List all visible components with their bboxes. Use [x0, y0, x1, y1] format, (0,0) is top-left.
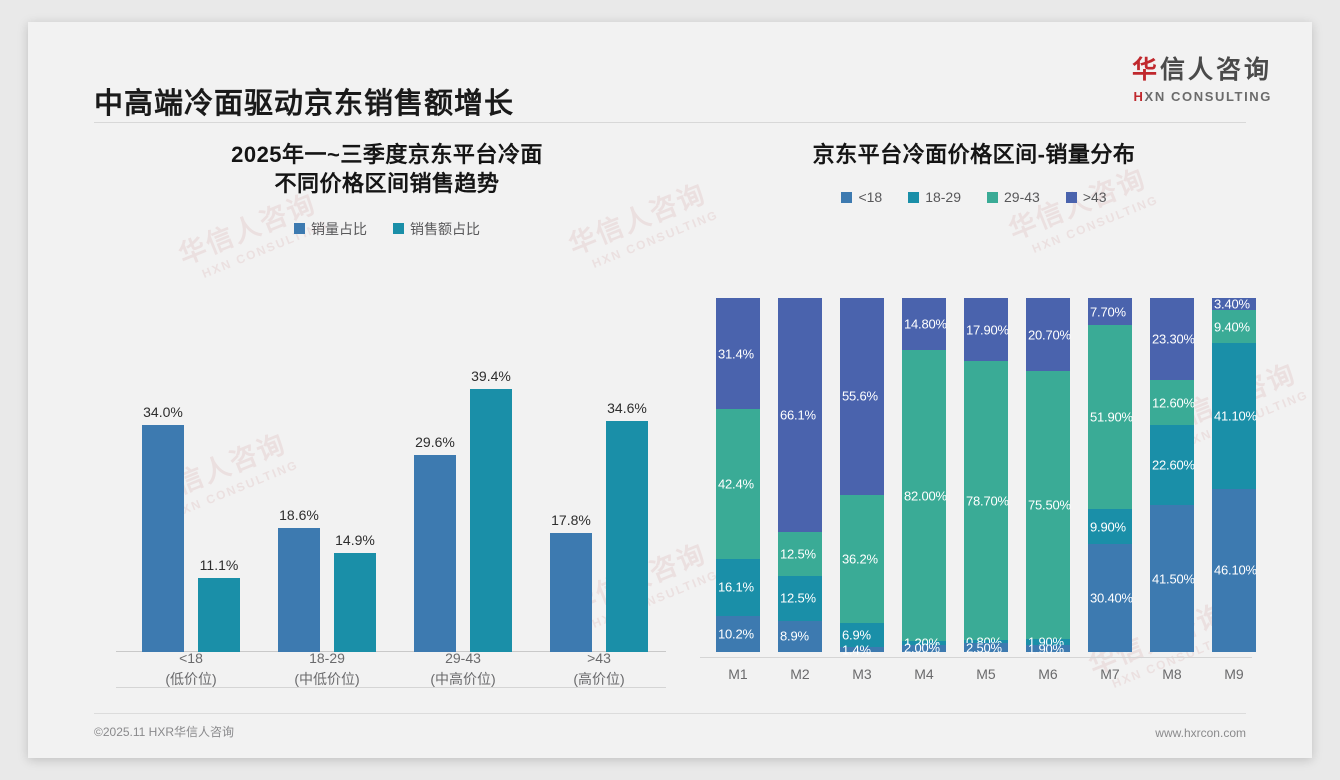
x-axis-label->43: >43(高价位)	[536, 648, 662, 689]
bar-group-29-43: 29.6%39.4%	[400, 302, 526, 652]
x-axis-label-sub: (高价位)	[536, 669, 662, 689]
bar-rect	[414, 455, 456, 652]
legend-label: 29-43	[1004, 189, 1040, 205]
stack-segment-M7-29-43: 51.90%	[1088, 325, 1132, 509]
stack-segment-label: 30.40%	[1090, 591, 1133, 606]
x-axis-label-main: >43	[536, 648, 662, 668]
bar-<18-销量占比[interactable]: 34.0%	[142, 425, 184, 652]
stack-segment-label: 42.4%	[718, 477, 754, 492]
stack-segment-label: 1.4%	[842, 642, 871, 657]
stack-segment-label: 12.5%	[780, 591, 816, 606]
stack-segment-M4-29-43: 82.00%	[902, 350, 946, 640]
stack-segment-label: 2.00%	[904, 641, 940, 656]
stack-segment-label: 23.30%	[1152, 332, 1195, 347]
stacked-bar-M4[interactable]: 14.80%82.00%1.20%2.00%	[902, 298, 946, 652]
legend-swatch-icon	[841, 192, 852, 203]
right-chart-plot-area: 31.4%42.4%16.1%10.2%M166.1%12.5%12.5%8.9…	[700, 288, 1252, 688]
stack-segment-M3-<18: 1.4%	[840, 647, 884, 652]
bar-29-43-销量占比[interactable]: 29.6%	[414, 455, 456, 652]
legend-label: 18-29	[925, 189, 961, 205]
stack-segment-label: 7.70%	[1090, 304, 1126, 319]
x-axis-label-main: 29-43	[400, 648, 526, 668]
stack-segment-label: 66.1%	[780, 408, 816, 423]
stack-segment-M8-<18: 41.50%	[1150, 505, 1194, 652]
stack-segment-label: 20.70%	[1028, 327, 1071, 342]
stack-segment-M5-29-43: 78.70%	[964, 361, 1008, 640]
stack-segment-M9-<18: 46.10%	[1212, 489, 1256, 652]
legend-swatch-icon	[393, 223, 404, 234]
x-axis-label-M8: M8	[1150, 666, 1194, 682]
stack-segment-label: 8.9%	[780, 629, 809, 644]
bar-rect	[198, 578, 240, 652]
stack-segment-label: 46.10%	[1214, 563, 1257, 578]
page-title: 中高端冷面驱动京东销售额增长	[94, 80, 514, 122]
stack-segment-M1-29-43: 42.4%	[716, 409, 760, 559]
stacked-bar-M5[interactable]: 17.90%78.70%0.80%2.50%	[964, 298, 1008, 652]
stack-segment-M7-18-29: 9.90%	[1088, 509, 1132, 544]
stack-segment-M1->43: 31.4%	[716, 298, 760, 409]
stack-segment-M1-18-29: 16.1%	[716, 559, 760, 616]
x-axis-label-main: 18-29	[264, 648, 390, 668]
left-chart-legend: 销量占比销售额占比	[94, 219, 680, 239]
stack-segment-label: 9.40%	[1214, 319, 1250, 334]
bar-rect	[142, 425, 184, 652]
x-axis-label-sub: (低价位)	[128, 669, 254, 689]
logo-chinese-text: 华信人咨询	[1132, 58, 1272, 83]
stacked-bar-M7[interactable]: 7.70%51.90%9.90%30.40%	[1088, 298, 1132, 652]
x-axis-label-sub: (中高价位)	[400, 669, 526, 689]
bar-value-label: 14.9%	[335, 532, 375, 548]
stack-segment-label: 17.90%	[966, 322, 1009, 337]
stack-segment-M6-<18: 1.90%	[1026, 645, 1070, 652]
stack-segment-M2-18-29: 12.5%	[778, 576, 822, 620]
slide-canvas: 华信人咨询 HXN CONSULTING 华信人咨询 HXN CONSULTIN…	[28, 22, 1312, 758]
stack-segment-label: 1.90%	[1028, 641, 1064, 656]
bar->43-销售额占比[interactable]: 34.6%	[606, 421, 648, 652]
stack-segment-label: 75.50%	[1028, 497, 1071, 512]
left-chart-title-line2: 不同价格区间销售趋势	[94, 169, 680, 198]
stack-segment-M6-29-43: 75.50%	[1026, 371, 1070, 638]
stack-segment-M9-18-29: 41.10%	[1212, 343, 1256, 489]
bar-rect	[278, 528, 320, 652]
stack-segment-M4->43: 14.80%	[902, 298, 946, 350]
footer-divider	[94, 713, 1246, 714]
bar-value-label: 11.1%	[200, 557, 239, 573]
stacked-bar-M3[interactable]: 55.6%36.2%6.9%1.4%	[840, 298, 884, 652]
stack-segment-label: 55.6%	[842, 389, 878, 404]
logo-accent-char: 华	[1132, 56, 1160, 84]
stack-segment-label: 16.1%	[718, 580, 754, 595]
bar->43-销量占比[interactable]: 17.8%	[550, 533, 592, 652]
x-axis-label-18-29: 18-29(中低价位)	[264, 648, 390, 689]
bar-value-label: 18.6%	[279, 507, 319, 523]
bar-rect	[606, 421, 648, 652]
footer-copyright: ©2025.11 HXR华信人咨询	[94, 723, 234, 740]
x-axis-label-M5: M5	[964, 666, 1008, 682]
stack-segment-label: 36.2%	[842, 551, 878, 566]
legend-item->43[interactable]: >43	[1066, 189, 1107, 205]
footer-website: www.hxrcon.com	[1155, 726, 1246, 740]
legend-item-销售额占比[interactable]: 销售额占比	[393, 219, 480, 239]
legend-swatch-icon	[987, 192, 998, 203]
stack-segment-label: 6.9%	[842, 627, 871, 642]
right-chart-legend: <1818-2929-43>43	[694, 189, 1254, 205]
x-axis-label-M2: M2	[778, 666, 822, 682]
left-chart-plot-area: 34.0%11.1%<18(低价位)18.6%14.9%18-29(中低价位)2…	[116, 288, 666, 688]
stack-segment-label: 82.00%	[904, 488, 947, 503]
stacked-bar-M2[interactable]: 66.1%12.5%12.5%8.9%	[778, 298, 822, 652]
slide-header: 中高端冷面驱动京东销售额增长 华信人咨询 HXN CONSULTING	[28, 22, 1312, 118]
bar-group->43: 17.8%34.6%	[536, 302, 662, 652]
stack-segment-M7-<18: 30.40%	[1088, 544, 1132, 652]
stack-segment-M3->43: 55.6%	[840, 298, 884, 495]
stack-segment-M9->43: 3.40%	[1212, 298, 1256, 310]
legend-swatch-icon	[294, 223, 305, 234]
bar-29-43-销售额占比[interactable]: 39.4%	[470, 389, 512, 652]
bar-value-label: 34.6%	[607, 400, 647, 416]
right-chart-title: 京东平台冷面价格区间-销量分布	[694, 140, 1254, 169]
x-axis-label-M4: M4	[902, 666, 946, 682]
x-axis-label-M6: M6	[1026, 666, 1070, 682]
stacked-bar-M6[interactable]: 20.70%75.50%1.90%1.90%	[1026, 298, 1070, 652]
bar-rect	[470, 389, 512, 652]
stack-segment-M5-<18: 2.50%	[964, 643, 1008, 652]
stack-segment-M9-29-43: 9.40%	[1212, 310, 1256, 343]
bar-group-<18: 34.0%11.1%	[128, 302, 254, 652]
left-chart-panel: 2025年一~三季度京东平台冷面 不同价格区间销售趋势 销量占比销售额占比 34…	[94, 140, 680, 740]
left-chart-title-line1: 2025年一~三季度京东平台冷面	[94, 140, 680, 169]
right-chart-title-line1: 京东平台冷面价格区间-销量分布	[694, 140, 1254, 169]
bar-<18-销售额占比[interactable]: 11.1%	[198, 578, 240, 652]
stack-segment-M8-18-29: 22.60%	[1150, 425, 1194, 505]
stack-segment-label: 41.10%	[1214, 409, 1257, 424]
bar-value-label: 34.0%	[143, 404, 183, 420]
legend-item-<18[interactable]: <18	[841, 189, 882, 205]
logo-rest-chars: 信人咨询	[1160, 56, 1272, 84]
stack-segment-M8->43: 23.30%	[1150, 298, 1194, 380]
right-chart-baseline	[700, 657, 1252, 658]
stack-segment-label: 12.60%	[1152, 395, 1195, 410]
bar-group-18-29: 18.6%14.9%	[264, 302, 390, 652]
stack-segment-M4-<18: 2.00%	[902, 645, 946, 652]
stack-segment-label: 9.90%	[1090, 519, 1126, 534]
x-axis-label-<18: <18(低价位)	[128, 648, 254, 689]
legend-label: 销量占比	[311, 219, 367, 239]
stack-segment-M5->43: 17.90%	[964, 298, 1008, 361]
legend-label: <18	[858, 189, 882, 205]
header-divider	[94, 122, 1246, 123]
bar-value-label: 29.6%	[415, 434, 455, 450]
legend-label: 销售额占比	[410, 219, 480, 239]
x-axis-label-M1: M1	[716, 666, 760, 682]
company-logo: 华信人咨询 HXN CONSULTING	[1132, 58, 1272, 103]
logo-en-accent-char: H	[1134, 89, 1145, 104]
right-chart-panel: 京东平台冷面价格区间-销量分布 <1818-2929-43>43 31.4%42…	[694, 140, 1254, 740]
stack-segment-M2->43: 66.1%	[778, 298, 822, 532]
x-axis-label-M9: M9	[1212, 666, 1256, 682]
logo-en-rest: XN CONSULTING	[1145, 89, 1272, 104]
x-axis-label-main: <18	[128, 648, 254, 668]
legend-swatch-icon	[1066, 192, 1077, 203]
stack-segment-label: 14.80%	[904, 317, 947, 332]
stacked-bar-M1[interactable]: 31.4%42.4%16.1%10.2%	[716, 298, 760, 652]
stacked-bar-M8[interactable]: 23.30%12.60%22.60%41.50%	[1150, 298, 1194, 652]
bar-rect	[334, 553, 376, 652]
legend-item-销量占比[interactable]: 销量占比	[294, 219, 367, 239]
stack-segment-M1-<18: 10.2%	[716, 616, 760, 652]
stack-segment-label: 2.50%	[966, 640, 1002, 655]
legend-label: >43	[1083, 189, 1107, 205]
stack-segment-M2-<18: 8.9%	[778, 621, 822, 653]
stack-segment-label: 78.70%	[966, 493, 1009, 508]
stack-segment-label: 12.5%	[780, 547, 816, 562]
stack-segment-label: 51.90%	[1090, 410, 1133, 425]
stack-segment-label: 31.4%	[718, 346, 754, 361]
stack-segment-label: 41.50%	[1152, 571, 1195, 586]
stack-segment-M7->43: 7.70%	[1088, 298, 1132, 325]
stack-segment-M6->43: 20.70%	[1026, 298, 1070, 371]
x-axis-label-29-43: 29-43(中高价位)	[400, 648, 526, 689]
legend-item-18-29[interactable]: 18-29	[908, 189, 961, 205]
bar-rect	[550, 533, 592, 652]
legend-item-29-43[interactable]: 29-43	[987, 189, 1040, 205]
x-axis-label-M7: M7	[1088, 666, 1132, 682]
legend-swatch-icon	[908, 192, 919, 203]
stack-segment-label: 10.2%	[718, 626, 754, 641]
stacked-bar-M9[interactable]: 3.40%9.40%41.10%46.10%	[1212, 298, 1256, 652]
stack-segment-label: 22.60%	[1152, 458, 1195, 473]
x-axis-label-sub: (中低价位)	[264, 669, 390, 689]
stack-segment-M3-29-43: 36.2%	[840, 495, 884, 623]
logo-english-text: HXN CONSULTING	[1132, 90, 1272, 103]
bar-18-29-销售额占比[interactable]: 14.9%	[334, 553, 376, 652]
stack-segment-M8-29-43: 12.60%	[1150, 380, 1194, 425]
left-chart-title: 2025年一~三季度京东平台冷面 不同价格区间销售趋势	[94, 140, 680, 199]
x-axis-label-M3: M3	[840, 666, 884, 682]
bar-value-label: 39.4%	[471, 368, 511, 384]
stack-segment-M2-29-43: 12.5%	[778, 532, 822, 576]
bar-value-label: 17.8%	[551, 512, 591, 528]
bar-18-29-销量占比[interactable]: 18.6%	[278, 528, 320, 652]
